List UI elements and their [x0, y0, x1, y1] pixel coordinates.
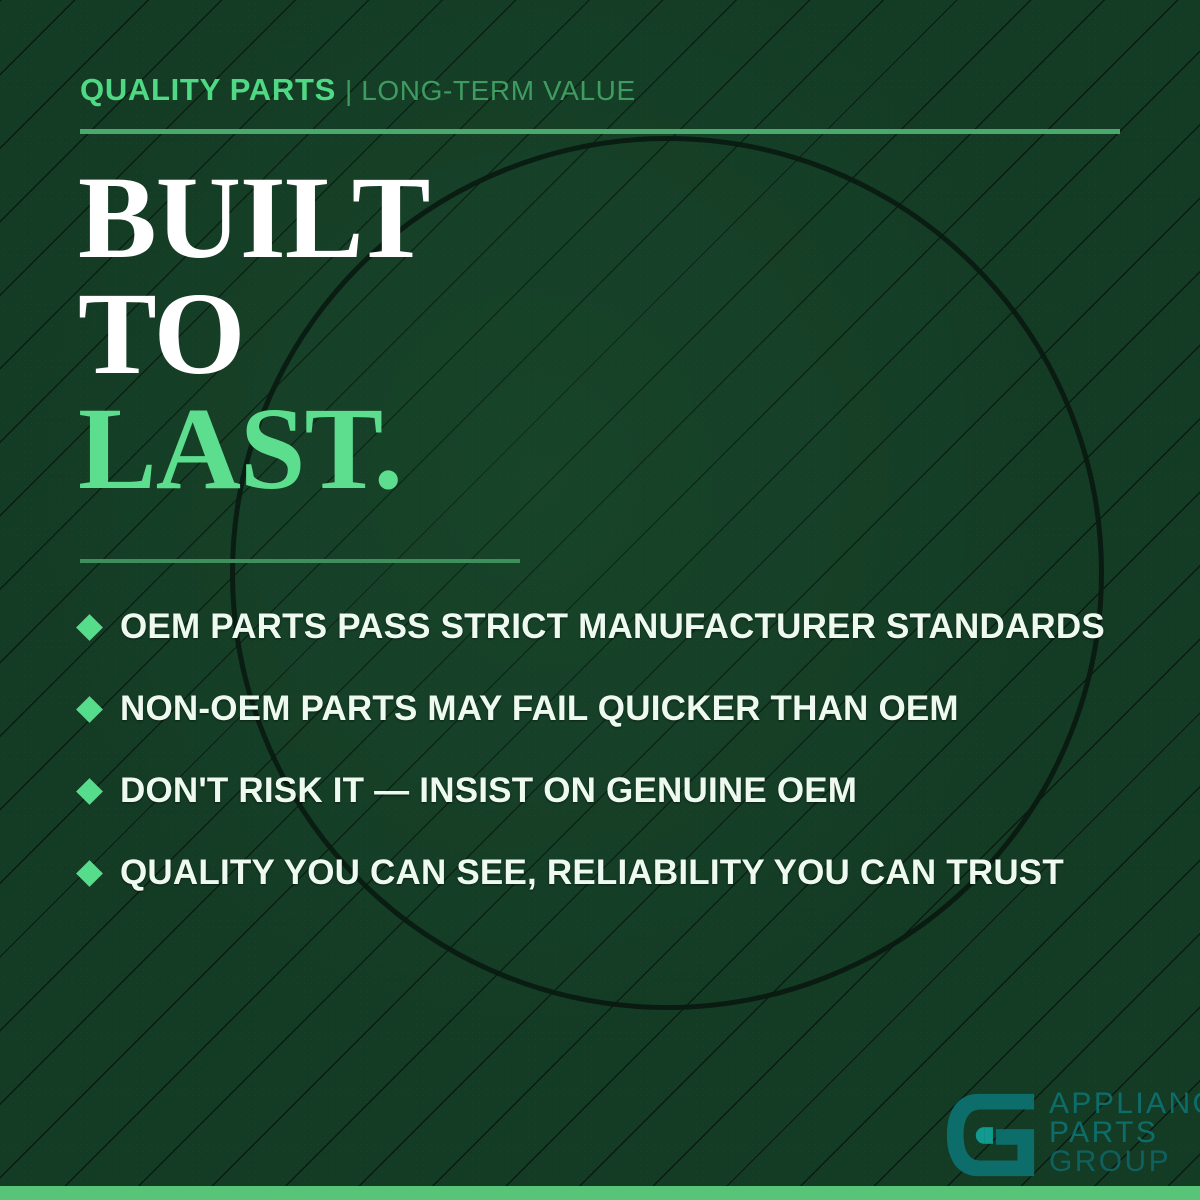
promo-poster: QUALITY PARTS| LONG-TERM VALUE BUILT TO …: [0, 0, 1200, 1200]
diamond-icon: [76, 860, 103, 887]
g-monogram-icon: [941, 1086, 1039, 1184]
eyebrow-main-label: QUALITY PARTS: [80, 72, 336, 107]
list-item-label: DON'T RISK IT — INSIST ON GENUINE OEM: [120, 771, 857, 811]
diamond-icon: [76, 614, 103, 641]
list-item: QUALITY YOU CAN SEE, RELIABILITY YOU CAN…: [80, 832, 1160, 914]
eyebrow-heading: QUALITY PARTS| LONG-TERM VALUE: [80, 74, 636, 105]
logo-line-1: APPLIANCE: [1049, 1090, 1200, 1119]
list-item-label: NON-OEM PARTS MAY FAIL QUICKER THAN OEM: [120, 689, 959, 729]
header-divider-rule: [80, 129, 1120, 134]
list-item: DON'T RISK IT — INSIST ON GENUINE OEM: [80, 750, 1160, 832]
headline-line-3: LAST.: [78, 391, 429, 507]
list-item-label: QUALITY YOU CAN SEE, RELIABILITY YOU CAN…: [120, 853, 1064, 893]
benefits-list: OEM PARTS PASS STRICT MANUFACTURER STAND…: [80, 586, 1160, 914]
diamond-icon: [76, 778, 103, 805]
logo-line-2: PARTS: [1049, 1119, 1200, 1148]
headline-line-1: BUILT: [78, 160, 429, 276]
poster-content: QUALITY PARTS| LONG-TERM VALUE BUILT TO …: [0, 0, 1200, 1200]
logo-line-3: GROUP: [1049, 1148, 1200, 1177]
diamond-icon: [76, 696, 103, 723]
headline-line-2: TO: [78, 276, 429, 392]
brand-logo-wordmark: APPLIANCE PARTS GROUP: [1049, 1086, 1200, 1176]
eyebrow-sub-label: | LONG-TERM VALUE: [345, 75, 636, 106]
brand-logo: APPLIANCE PARTS GROUP: [941, 1086, 1200, 1184]
bottom-accent-bar: [0, 1186, 1200, 1200]
list-item: NON-OEM PARTS MAY FAIL QUICKER THAN OEM: [80, 668, 1160, 750]
list-item-label: OEM PARTS PASS STRICT MANUFACTURER STAND…: [120, 607, 1105, 647]
page-title: BUILT TO LAST.: [78, 160, 429, 507]
list-item: OEM PARTS PASS STRICT MANUFACTURER STAND…: [80, 586, 1160, 668]
headline-divider-rule: [80, 559, 520, 563]
